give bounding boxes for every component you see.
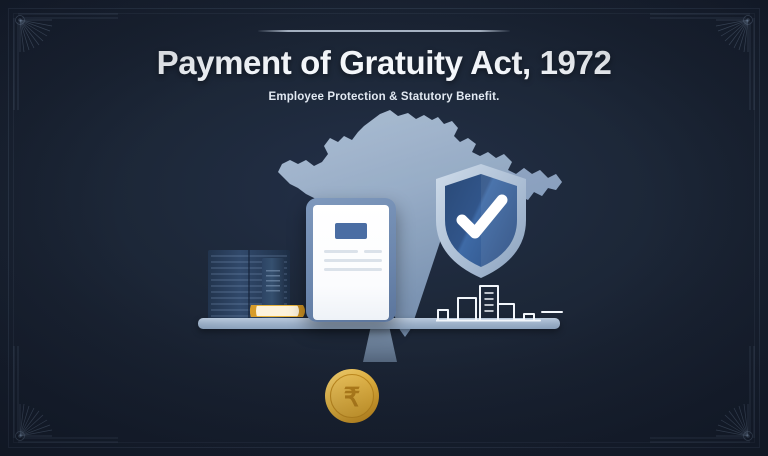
svg-text:₹: ₹ [344, 382, 361, 412]
document-header-block [335, 223, 367, 239]
city-skyline [436, 278, 564, 322]
illustration-stage: ₹ [0, 100, 768, 380]
document-text-line [324, 268, 382, 271]
page-title: Payment of Gratuity Act, 1972 [0, 46, 768, 81]
certificate-document [306, 198, 396, 322]
poster-header: Payment of Gratuity Act, 1972 Employee P… [0, 30, 768, 103]
document-text-line [324, 250, 358, 253]
shield-check [432, 162, 530, 280]
title-divider [258, 30, 510, 32]
page-subtitle: Employee Protection & Statutory Benefit. [0, 91, 768, 103]
gold-book [247, 302, 309, 320]
document-text-line [324, 259, 382, 262]
rupee-coin: ₹ [324, 368, 380, 424]
document-page [313, 205, 389, 320]
document-text-line [364, 250, 382, 253]
poster-canvas: Payment of Gratuity Act, 1972 Employee P… [0, 0, 768, 456]
